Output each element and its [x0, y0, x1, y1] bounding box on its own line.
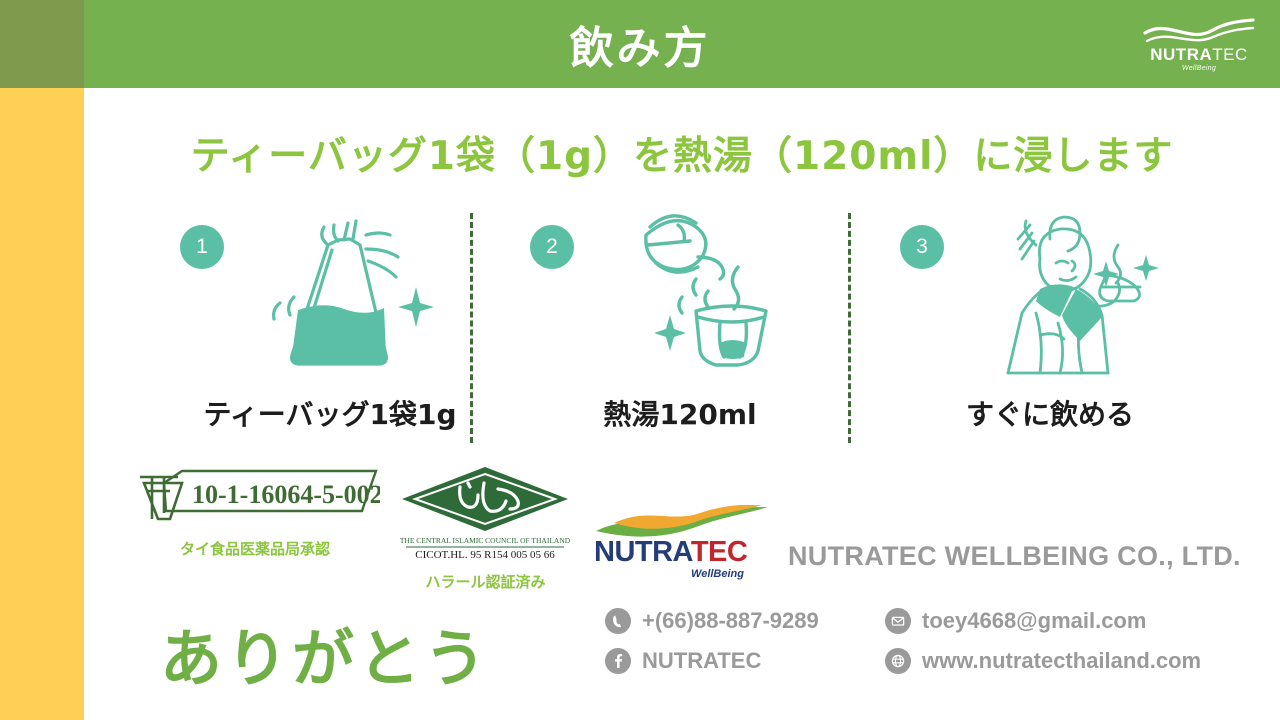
step-label-1: ティーバッグ1袋1g	[160, 393, 500, 433]
step-number-badge: 3	[900, 225, 944, 269]
thai-fda-seal-icon: 10-1-16064-5-0024	[130, 465, 380, 527]
instruction-subtitle: ティーバッグ1袋（1g）を熱湯（120ml）に浸します	[84, 125, 1280, 181]
step-divider-1	[470, 213, 473, 443]
company-logo-name: NUTRATEC	[592, 538, 772, 567]
contact-facebook[interactable]: NUTRATEC	[605, 648, 761, 674]
contact-email-text: toey4668@gmail.com	[922, 608, 1146, 634]
step-divider-2	[848, 213, 851, 443]
left-yellow-stripe	[0, 88, 84, 720]
globe-icon	[885, 648, 911, 674]
header-logo-name: NUTRATEC	[1150, 46, 1248, 63]
step-number-badge: 1	[180, 225, 224, 269]
thai-fda-code: 10-1-16064-5-0024	[192, 480, 380, 509]
step-label-2: 熱湯120ml	[510, 393, 850, 433]
header-brand-logo: NUTRATEC WellBeing	[1140, 8, 1258, 80]
step-number-badge: 2	[530, 225, 574, 269]
header-bar: 飲み方 NUTRATEC WellBeing	[0, 0, 1280, 88]
teapot-pouring-cup-icon	[570, 205, 820, 390]
step-item-3: 3	[880, 205, 1220, 445]
contacts-container: +(66)88-887-9289 NUTRATEC toey4668@gmail…	[605, 608, 1265, 688]
step-item-2: 2	[510, 205, 850, 445]
page-title: 飲み方	[0, 0, 1280, 88]
contact-website[interactable]: www.nutratecthailand.com	[885, 648, 1201, 674]
contact-email[interactable]: toey4668@gmail.com	[885, 608, 1146, 634]
company-logo-tagline: WellBeing	[592, 568, 772, 580]
slide-root: 飲み方 NUTRATEC WellBeing ティーバッグ1袋（1g）を熱湯（1…	[0, 0, 1280, 720]
thank-you-text: ありがとう	[160, 608, 490, 698]
header-logo-tagline: WellBeing	[1182, 65, 1216, 72]
tea-bag-icon	[220, 205, 470, 390]
halal-council-text: THE CENTRAL ISLAMIC COUNCIL OF THAILAND	[400, 536, 571, 545]
phone-icon	[605, 608, 631, 634]
step-item-1: 1 ティーバッグ1袋1g	[160, 205, 500, 445]
company-name: NUTRATEC WELLBEING CO., LTD.	[788, 541, 1241, 572]
certification-thai-fda: 10-1-16064-5-0024 タイ食品医薬品局承認	[130, 465, 380, 559]
certifications-container: 10-1-16064-5-0024 タイ食品医薬品局承認 THE CENTRAL…	[130, 465, 580, 590]
halal-code-text: CICOT.HL. 95 R154 005 05 66	[415, 549, 555, 560]
certification-halal: THE CENTRAL ISLAMIC COUNCIL OF THAILAND …	[398, 465, 573, 592]
contact-phone[interactable]: +(66)88-887-9289	[605, 608, 819, 634]
steps-container: 1 ティーバッグ1袋1g 2	[120, 205, 1200, 445]
email-icon	[885, 608, 911, 634]
cert-caption-halal: ハラール認証済み	[398, 571, 573, 592]
halal-diamond-seal-icon: THE CENTRAL ISLAMIC COUNCIL OF THAILAND …	[398, 465, 573, 560]
step-label-3: すぐに飲める	[880, 393, 1220, 433]
company-block: NUTRATEC WellBeing NUTRATEC WELLBEING CO…	[592, 505, 1252, 585]
wave-swoosh-icon	[1143, 17, 1255, 45]
cert-caption-fda: タイ食品医薬品局承認	[130, 538, 380, 559]
company-wave-icon	[592, 505, 772, 539]
contact-phone-text: +(66)88-887-9289	[642, 608, 819, 634]
facebook-icon	[605, 648, 631, 674]
woman-drinking-tea-icon	[940, 205, 1190, 390]
contact-website-text: www.nutratecthailand.com	[922, 648, 1201, 674]
contact-facebook-text: NUTRATEC	[642, 648, 761, 674]
company-logo: NUTRATEC WellBeing	[592, 505, 772, 583]
